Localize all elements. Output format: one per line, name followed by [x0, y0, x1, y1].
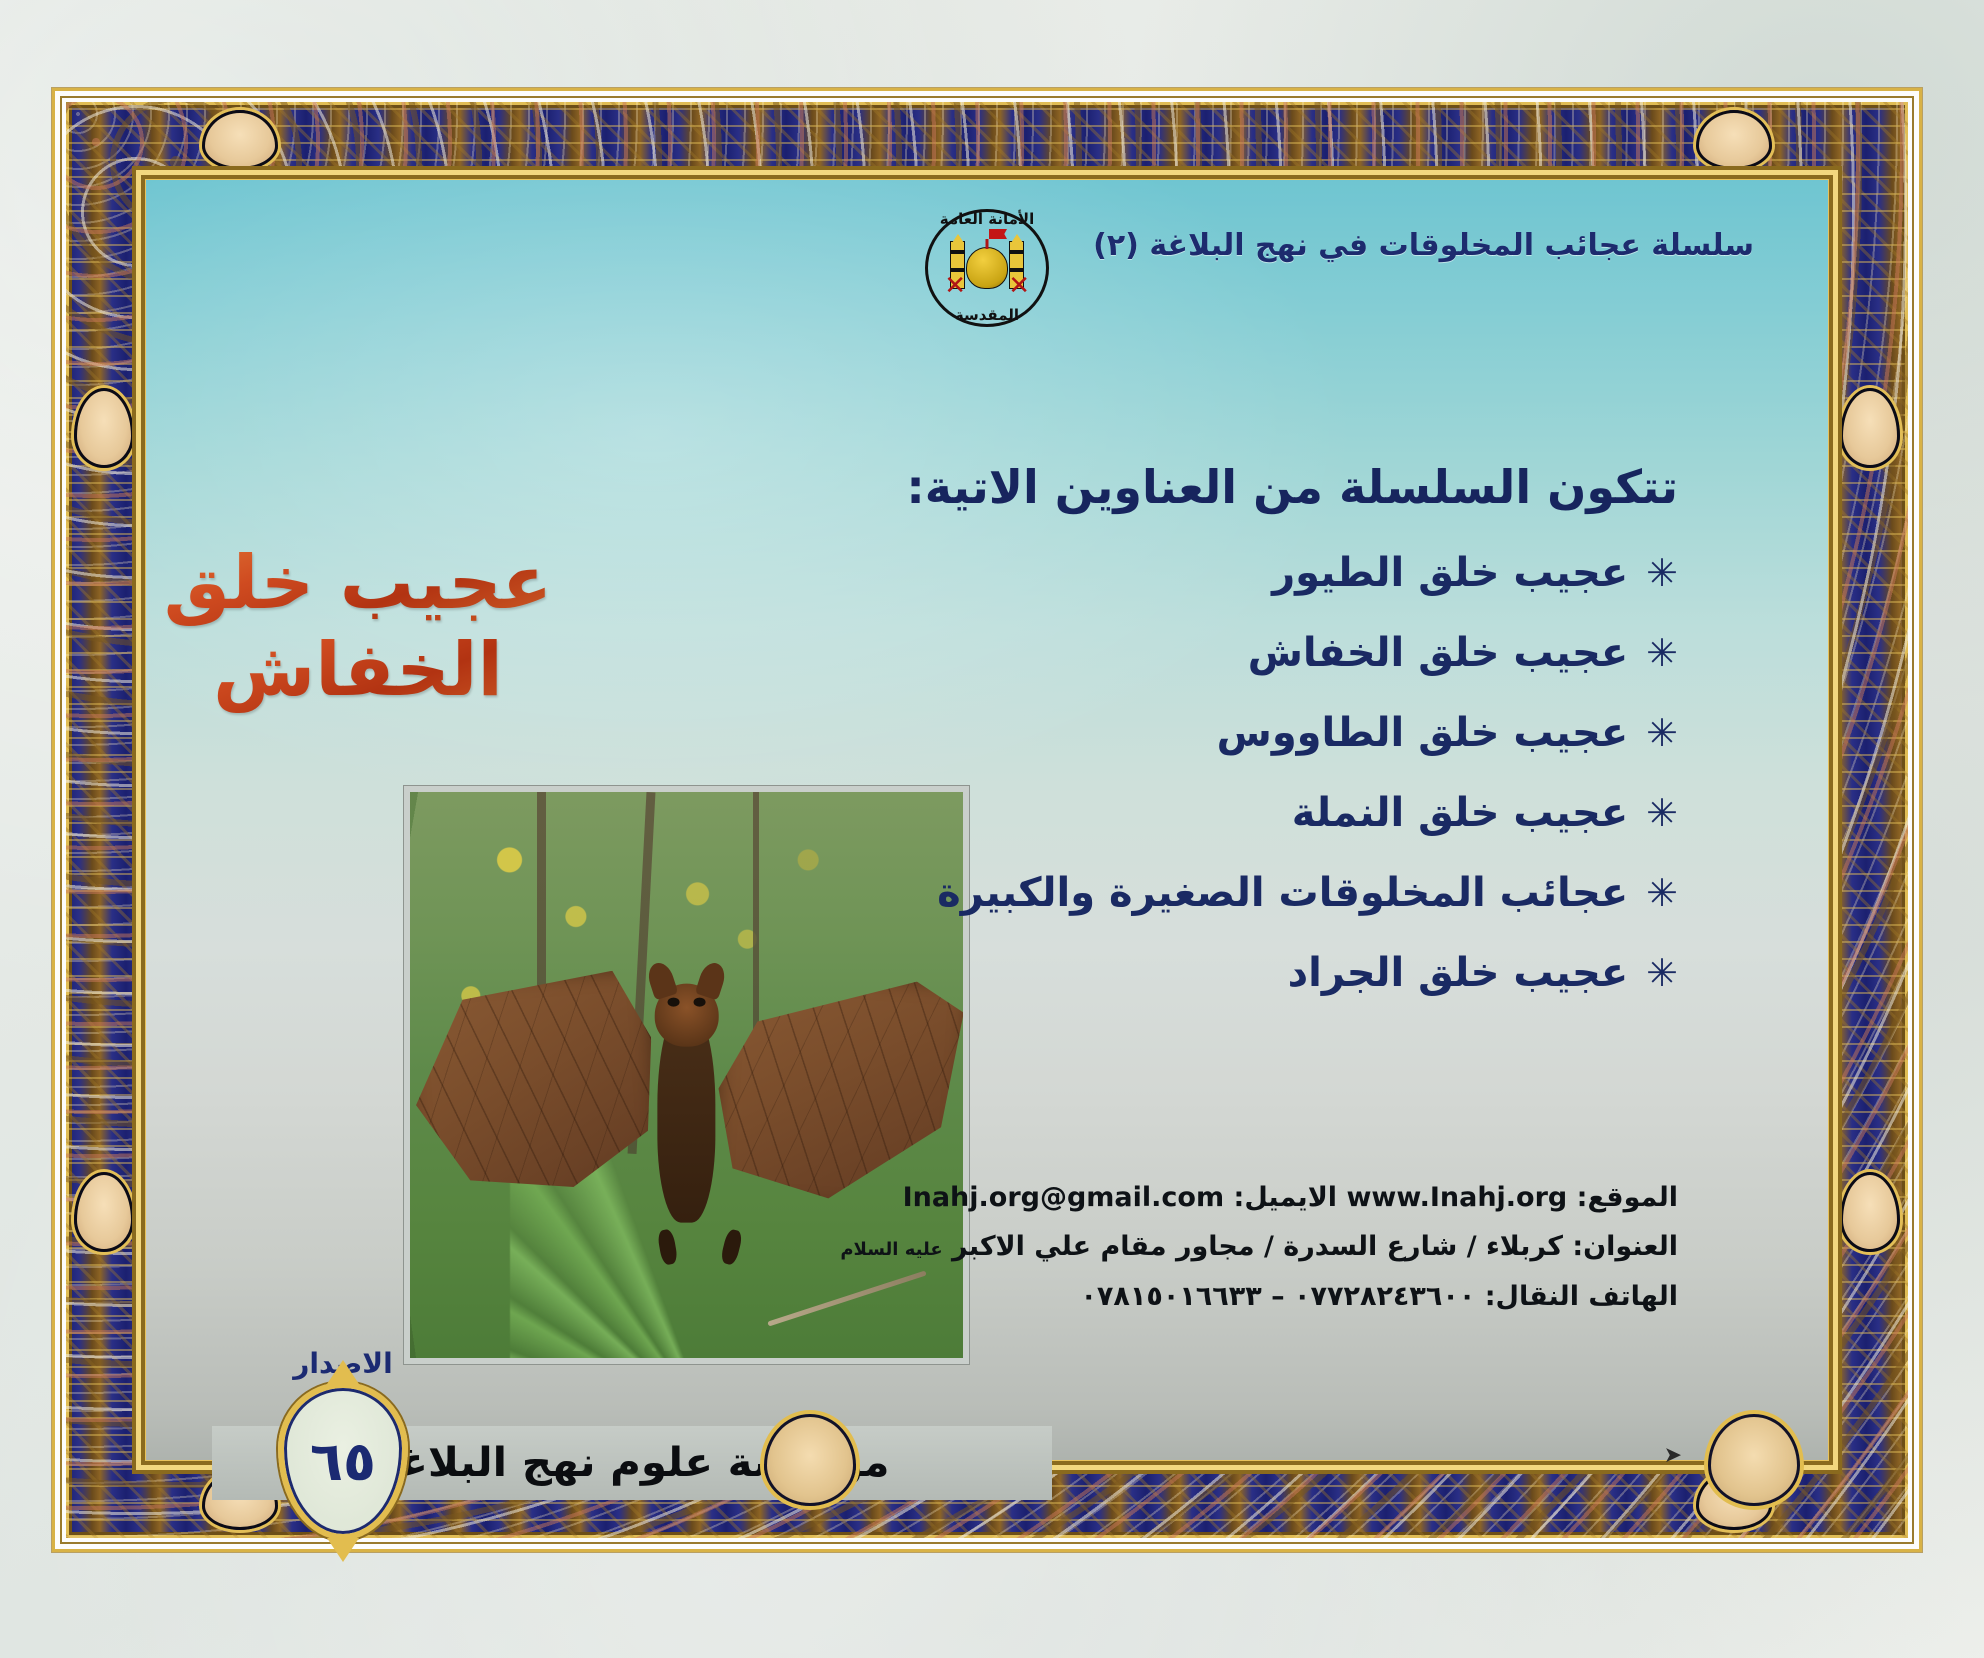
asterisk-icon: ✳: [1646, 554, 1678, 592]
arrow-icon: ➤: [1664, 1443, 1682, 1468]
phone-value: ٠٧٧٢٨٢٤٣٦٠٠ – ٠٧٨١٥٠١٦٦٣٣: [1080, 1281, 1475, 1312]
bat-wing-left: [404, 969, 662, 1217]
edition-badge: ٦٥: [278, 1382, 408, 1540]
contact-block: الموقع: www.Inahj.org الايميل: Inahj.org…: [648, 1179, 1678, 1328]
phone-label: الهاتف النقال:: [1485, 1281, 1678, 1312]
contact-phone-line: الهاتف النقال: ٠٧٧٢٨٢٤٣٦٠٠ – ٠٧٨١٥٠١٦٦٣٣: [648, 1278, 1678, 1316]
list-item-label: عجيب خلق الطيور: [1272, 548, 1628, 598]
contact-web-line: الموقع: www.Inahj.org الايميل: Inahj.org…: [648, 1179, 1678, 1217]
asterisk-icon: ✳: [1646, 874, 1678, 912]
address-honorific: عليه السلام: [840, 1239, 942, 1260]
bottom-medallion-left: [764, 1414, 856, 1506]
address-value: كربلاء / شارع السدرة / مجاور مقام علي ال…: [952, 1231, 1563, 1262]
email-label: الايميل:: [1234, 1182, 1338, 1213]
logo-mark-left-icon: ✕: [944, 277, 966, 299]
badge-footer-ornament: [327, 1538, 359, 1562]
list-item-label: عجائب المخلوقات الصغيرة والكبيرة: [937, 868, 1628, 918]
list-item-label: عجيب خلق النملة: [1292, 788, 1628, 838]
logo-mark-right-icon: ✕: [1008, 277, 1030, 299]
asterisk-icon: ✳: [1646, 954, 1678, 992]
main-title-line2: الخفاش: [146, 627, 618, 714]
edition-badge-block: الاصدار ٦٥: [228, 1347, 458, 1540]
asterisk-icon: ✳: [1646, 794, 1678, 832]
email-value[interactable]: Inahj.org@gmail.com: [903, 1179, 1225, 1217]
list-item-label: عجيب خلق الجراد: [1288, 948, 1629, 998]
main-title: عجيب خلق الخفاش: [146, 540, 618, 715]
list-item-label: عجيب خلق الطاووس: [1217, 708, 1629, 758]
cover-content-panel: سلسلة عجائب المخلوقات في نهج البلاغة (٢)…: [146, 180, 1828, 1460]
list-item: ✳ عجيب خلق الطاووس: [648, 708, 1678, 758]
site-label: الموقع:: [1577, 1182, 1678, 1213]
list-item: ✳ عجائب المخلوقات الصغيرة والكبيرة: [648, 868, 1678, 918]
bottom-medallion-right: [1708, 1414, 1800, 1506]
asterisk-icon: ✳: [1646, 634, 1678, 672]
address-label: العنوان:: [1572, 1231, 1678, 1262]
edition-number: ٦٥: [310, 1430, 376, 1493]
series-list: تتكون السلسلة من العناوين الاتية: ✳ عجيب…: [648, 460, 1678, 1028]
main-title-line1: عجيب خلق: [146, 540, 618, 627]
badge-cap-ornament: [327, 1360, 359, 1384]
inner-gold-frame: سلسلة عجائب المخلوقات في نهج البلاغة (٢)…: [132, 166, 1842, 1474]
list-item: ✳ عجيب خلق الطيور: [648, 548, 1678, 598]
book-cover: سلسلة عجائب المخلوقات في نهج البلاغة (٢)…: [52, 88, 1922, 1552]
list-item: ✳ عجيب خلق الخفاش: [648, 628, 1678, 678]
asterisk-icon: ✳: [1646, 714, 1678, 752]
list-item: ✳ عجيب خلق النملة: [648, 788, 1678, 838]
site-value[interactable]: www.Inahj.org: [1346, 1179, 1567, 1217]
list-item-label: عجيب خلق الخفاش: [1248, 628, 1628, 678]
series-list-heading: تتكون السلسلة من العناوين الاتية:: [648, 460, 1678, 514]
series-header-text: سلسلة عجائب المخلوقات في نهج البلاغة (٢): [1093, 228, 1828, 263]
series-header: سلسلة عجائب المخلوقات في نهج البلاغة (٢): [198, 216, 1828, 274]
list-item: ✳ عجيب خلق الجراد: [648, 948, 1678, 998]
logo-bottom-text: المقدسة: [928, 306, 1046, 324]
contact-address-line: العنوان: كربلاء / شارع السدرة / مجاور مق…: [648, 1228, 1678, 1266]
